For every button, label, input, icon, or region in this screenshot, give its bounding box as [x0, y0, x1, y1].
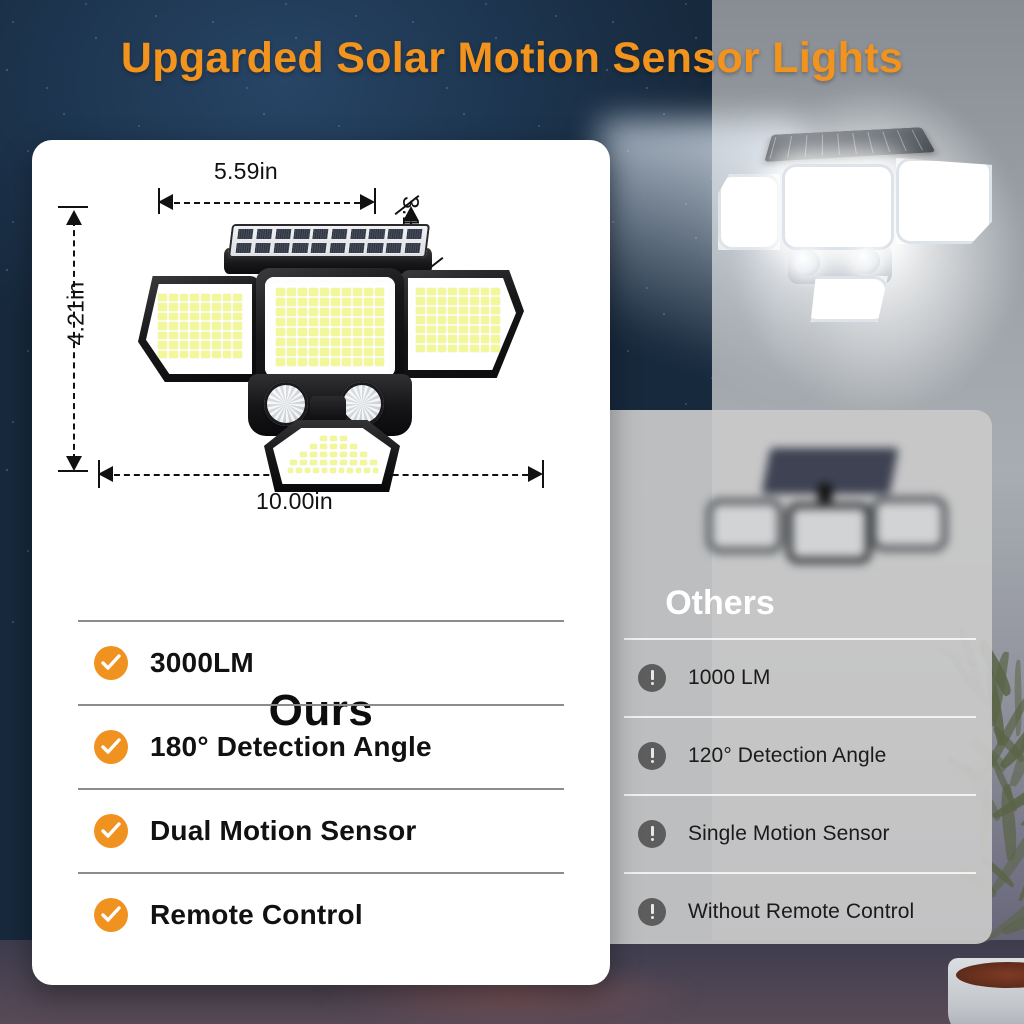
led: [290, 460, 297, 465]
led: [416, 307, 425, 314]
led: [309, 308, 318, 316]
led: [320, 298, 329, 306]
led: [330, 468, 335, 473]
led: [287, 308, 296, 316]
led: [223, 351, 232, 358]
led: [320, 308, 329, 316]
solar-cell: [309, 242, 328, 254]
led: [201, 294, 210, 301]
led: [190, 322, 199, 329]
led: [491, 307, 500, 314]
motion-sensor-left-icon: [264, 382, 308, 426]
led: [481, 288, 490, 295]
led: [233, 313, 242, 320]
left-led-grid: [158, 294, 242, 358]
ours-feature-label: Remote Control: [150, 899, 363, 931]
led: [287, 358, 296, 366]
led: [459, 288, 468, 295]
led: [331, 338, 340, 346]
led: [320, 358, 329, 366]
solar-cell: [386, 228, 405, 240]
led: [342, 358, 351, 366]
led: [309, 318, 318, 326]
led: [169, 313, 178, 320]
photo-solar-panel: [764, 127, 935, 162]
led: [470, 316, 479, 323]
led: [470, 335, 479, 342]
led: [342, 348, 351, 356]
others-feature-list: 1000 LM120° Detection AngleSingle Motion…: [624, 638, 976, 950]
led: [375, 288, 384, 296]
led: [158, 332, 167, 339]
led: [427, 326, 436, 333]
led: [353, 298, 362, 306]
led: [309, 328, 318, 336]
solar-cell: [367, 228, 386, 240]
led: [276, 308, 285, 316]
led: [470, 345, 479, 352]
others-feature-row: 120° Detection Angle: [624, 718, 976, 794]
led: [491, 345, 500, 352]
led: [342, 328, 351, 336]
others-feature-label: Without Remote Control: [688, 900, 914, 924]
led-row: [288, 436, 378, 441]
led: [427, 288, 436, 295]
led: [320, 348, 329, 356]
led: [375, 338, 384, 346]
led: [190, 303, 199, 310]
led: [309, 288, 318, 296]
led: [364, 328, 373, 336]
led: [481, 326, 490, 333]
photo-motion-sensor-right: [854, 248, 880, 274]
led: [276, 338, 285, 346]
led: [427, 345, 436, 352]
led: [330, 460, 337, 465]
led: [320, 328, 329, 336]
others-feature-row: Single Motion Sensor: [624, 796, 976, 872]
led: [180, 332, 189, 339]
led: [309, 338, 318, 346]
led: [448, 335, 457, 342]
check-icon: [94, 646, 128, 680]
led: [375, 358, 384, 366]
led: [340, 436, 347, 441]
led: [331, 308, 340, 316]
others-left-head: [706, 498, 784, 554]
page-title: Upgarded Solar Motion Sensor Lights: [0, 34, 1024, 83]
solar-cell: [255, 228, 274, 240]
check-icon: [94, 898, 128, 932]
led: [416, 288, 425, 295]
solar-cell: [366, 242, 385, 254]
bottom-light-head: [264, 420, 400, 492]
led: [491, 335, 500, 342]
led: [331, 358, 340, 366]
led: [364, 318, 373, 326]
led: [298, 298, 307, 306]
led: [481, 345, 490, 352]
led: [353, 358, 362, 366]
photo-center-light-panel: [782, 164, 894, 250]
led: [375, 328, 384, 336]
led: [298, 348, 307, 356]
led: [438, 345, 447, 352]
led: [180, 313, 189, 320]
dim-height-arrow-up: [66, 210, 82, 225]
led: [201, 341, 210, 348]
led: [330, 452, 337, 457]
led: [223, 322, 232, 329]
led: [448, 326, 457, 333]
led: [459, 316, 468, 323]
led: [448, 316, 457, 323]
led: [356, 468, 361, 473]
led: [438, 307, 447, 314]
check-icon: [94, 730, 128, 764]
led: [158, 341, 167, 348]
ours-feature-row: Dual Motion Sensor: [78, 790, 564, 872]
led: [276, 288, 285, 296]
led: [158, 313, 167, 320]
led: [416, 297, 425, 304]
led: [438, 297, 447, 304]
product-photo-lit-lamp: [690, 118, 1020, 368]
led: [320, 338, 329, 346]
led: [330, 436, 337, 441]
led: [375, 348, 384, 356]
led-row: [288, 468, 378, 473]
led: [331, 318, 340, 326]
led: [320, 318, 329, 326]
solar-cell: [405, 228, 424, 240]
led: [322, 468, 327, 473]
led: [309, 358, 318, 366]
photo-left-light-panel: [718, 174, 780, 250]
led: [353, 348, 362, 356]
led: [212, 294, 221, 301]
led: [364, 338, 373, 346]
exclamation-icon: [638, 742, 666, 770]
right-light-head: [400, 270, 524, 378]
led-row: [288, 444, 378, 449]
led: [298, 288, 307, 296]
led: [180, 341, 189, 348]
led: [342, 308, 351, 316]
led: [350, 444, 357, 449]
bottom-head-neck: [310, 396, 346, 422]
led: [201, 351, 210, 358]
led: [233, 332, 242, 339]
led: [300, 452, 307, 457]
solar-cell: [349, 228, 368, 240]
led: [169, 332, 178, 339]
led: [180, 303, 189, 310]
led: [212, 313, 221, 320]
led: [305, 468, 310, 473]
led: [416, 326, 425, 333]
led: [287, 348, 296, 356]
solar-cell: [274, 228, 293, 240]
led: [320, 436, 327, 441]
led: [276, 348, 285, 356]
led: [342, 338, 351, 346]
infographic-stage: Others 1000 LM120° Detection AngleSingle…: [0, 0, 1024, 1024]
led: [481, 307, 490, 314]
led: [331, 348, 340, 356]
led: [298, 308, 307, 316]
led: [340, 444, 347, 449]
motion-sensor-right-icon: [340, 382, 384, 426]
exclamation-icon: [638, 898, 666, 926]
led: [340, 460, 347, 465]
led: [158, 294, 167, 301]
solar-cell: [311, 228, 330, 240]
led: [180, 351, 189, 358]
led: [233, 351, 242, 358]
led: [169, 351, 178, 358]
led: [223, 313, 232, 320]
others-product-image: [710, 440, 950, 580]
led: [310, 444, 317, 449]
ours-feature-label: 3000LM: [150, 647, 254, 679]
led: [448, 288, 457, 295]
led: [309, 298, 318, 306]
led: [491, 316, 500, 323]
led: [320, 452, 327, 457]
photo-motion-sensor-left: [794, 250, 820, 276]
led: [375, 298, 384, 306]
led: [158, 303, 167, 310]
led: [360, 452, 367, 457]
led: [427, 297, 436, 304]
led: [276, 358, 285, 366]
others-right-head: [870, 496, 948, 552]
led: [470, 307, 479, 314]
led: [320, 444, 327, 449]
led: [298, 328, 307, 336]
led: [296, 468, 301, 473]
led: [438, 288, 447, 295]
led: [364, 298, 373, 306]
led: [309, 348, 318, 356]
led: [491, 326, 500, 333]
led: [364, 358, 373, 366]
ours-feature-row: 3000LM: [78, 622, 564, 704]
led: [190, 351, 199, 358]
led: [190, 313, 199, 320]
led: [310, 460, 317, 465]
led: [201, 322, 210, 329]
solar-cell: [328, 242, 347, 254]
led: [347, 468, 352, 473]
led: [427, 335, 436, 342]
led: [416, 335, 425, 342]
led: [276, 328, 285, 336]
led: [364, 288, 373, 296]
solar-cell: [291, 242, 310, 254]
solar-cell: [253, 242, 272, 254]
led: [190, 341, 199, 348]
ours-feature-row: Remote Control: [78, 874, 564, 956]
led: [212, 303, 221, 310]
led: [375, 318, 384, 326]
led: [331, 298, 340, 306]
bottom-led-array: [288, 436, 378, 476]
solar-cell: [384, 242, 403, 254]
led-row: [288, 452, 378, 457]
led: [233, 322, 242, 329]
led: [353, 318, 362, 326]
led: [320, 460, 327, 465]
led: [287, 298, 296, 306]
led: [364, 468, 369, 473]
led: [353, 328, 362, 336]
led: [438, 316, 447, 323]
led: [360, 460, 367, 465]
led: [223, 294, 232, 301]
dim-label-width-top: 5.59in: [214, 158, 278, 185]
others-feature-label: Single Motion Sensor: [688, 822, 890, 846]
center-light-head: [256, 268, 404, 386]
led: [320, 288, 329, 296]
led: [448, 345, 457, 352]
solar-cell: [292, 228, 311, 240]
left-light-head: [138, 276, 260, 382]
led: [342, 318, 351, 326]
solar-cell: [272, 242, 291, 254]
solar-cell: [236, 228, 255, 240]
led: [459, 326, 468, 333]
led: [287, 338, 296, 346]
led: [223, 332, 232, 339]
led: [298, 338, 307, 346]
led: [373, 468, 378, 473]
exclamation-icon: [638, 820, 666, 848]
dim-label-height-left: 4.21in: [62, 282, 89, 346]
led: [342, 288, 351, 296]
solar-cell: [234, 242, 253, 254]
led: [331, 328, 340, 336]
led: [470, 288, 479, 295]
led: [491, 288, 500, 295]
led: [459, 307, 468, 314]
led: [212, 332, 221, 339]
led: [223, 303, 232, 310]
led: [190, 294, 199, 301]
led: [364, 308, 373, 316]
led: [212, 351, 221, 358]
led: [233, 341, 242, 348]
led: [233, 303, 242, 310]
led: [180, 294, 189, 301]
led: [481, 335, 490, 342]
led: [438, 326, 447, 333]
led: [481, 316, 490, 323]
led: [350, 460, 357, 465]
led: [353, 338, 362, 346]
led: [169, 294, 178, 301]
led: [416, 345, 425, 352]
led: [310, 452, 317, 457]
led: [330, 444, 337, 449]
led: [287, 328, 296, 336]
led: [288, 468, 293, 473]
led: [223, 341, 232, 348]
led: [300, 460, 307, 465]
led: [169, 303, 178, 310]
ours-feature-row: 180° Detection Angle: [78, 706, 564, 788]
check-icon: [94, 814, 128, 848]
led: [470, 297, 479, 304]
led: [491, 297, 500, 304]
led: [201, 313, 210, 320]
led-row: [288, 460, 378, 465]
dim-height-arrow-down: [66, 456, 82, 471]
led: [448, 307, 457, 314]
led: [370, 460, 377, 465]
led: [438, 335, 447, 342]
led: [212, 341, 221, 348]
led: [350, 452, 357, 457]
others-feature-label: 120° Detection Angle: [688, 744, 886, 768]
led: [201, 303, 210, 310]
led: [470, 326, 479, 333]
ours-feature-list: 3000LM180° Detection AngleDual Motion Se…: [78, 620, 564, 956]
led: [353, 288, 362, 296]
led: [339, 468, 344, 473]
product-dimension-diagram: 5.59in 3.15in 4.21in 10.00i: [32, 140, 610, 560]
solar-lamp-illustration: [128, 200, 518, 530]
led: [158, 351, 167, 358]
led: [427, 307, 436, 314]
others-feature-label: 1000 LM: [688, 666, 770, 690]
led: [459, 335, 468, 342]
dim-height-cap-top: [58, 206, 88, 208]
led: [364, 348, 373, 356]
led: [459, 297, 468, 304]
right-led-grid: [416, 288, 500, 352]
led: [158, 322, 167, 329]
led: [481, 297, 490, 304]
ours-feature-label: 180° Detection Angle: [150, 731, 432, 763]
led: [375, 308, 384, 316]
led: [331, 288, 340, 296]
exclamation-icon: [638, 664, 666, 692]
led: [180, 322, 189, 329]
led: [169, 322, 178, 329]
solar-cell: [330, 228, 349, 240]
led: [459, 345, 468, 352]
led: [342, 298, 351, 306]
led: [212, 322, 221, 329]
led: [287, 318, 296, 326]
dim-bottom-arrow-right: [528, 466, 543, 482]
led: [340, 452, 347, 457]
led: [169, 341, 178, 348]
led: [298, 358, 307, 366]
led: [427, 316, 436, 323]
dim-bottom-arrow-left: [98, 466, 113, 482]
photo-right-light-panel: [896, 158, 992, 244]
led: [233, 294, 242, 301]
led: [353, 308, 362, 316]
led: [287, 288, 296, 296]
led: [416, 316, 425, 323]
others-feature-row: 1000 LM: [624, 640, 976, 716]
led: [190, 332, 199, 339]
led: [313, 468, 318, 473]
